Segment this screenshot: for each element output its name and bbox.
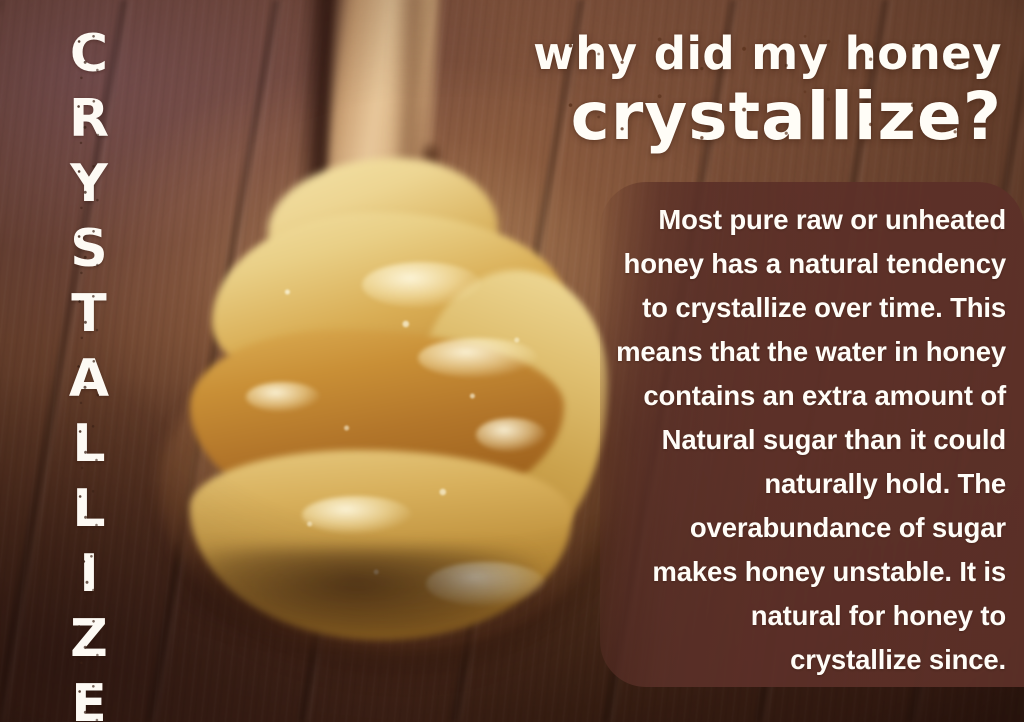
- headline: why did my honey crystallize?: [533, 28, 1002, 154]
- vertical-letter: R: [69, 87, 109, 152]
- headline-line-2: crystallize?: [533, 80, 1002, 154]
- vertical-letter: A: [69, 347, 109, 412]
- vertical-letter: Y: [70, 152, 108, 217]
- vertical-letter: S: [70, 217, 107, 282]
- vertical-letter: L: [72, 412, 105, 477]
- headline-line-1: why did my honey: [533, 28, 1002, 80]
- body-paragraph: Most pure raw or unheated honey has a na…: [614, 198, 1006, 682]
- vertical-letter: T: [71, 282, 106, 347]
- vertical-letter: C: [70, 22, 108, 87]
- vertical-letter: I: [79, 542, 98, 607]
- honey-drop-shadow: [176, 548, 536, 638]
- vertical-letter: L: [72, 477, 105, 542]
- vertical-word-crystallize: C R Y S T A L L I Z E: [52, 22, 126, 722]
- honey-crystallize-poster: C R Y S T A L L I Z E why did my honey c…: [0, 0, 1024, 722]
- vertical-letter: Z: [70, 607, 108, 672]
- body-text-container: Most pure raw or unheated honey has a na…: [600, 182, 1024, 682]
- vertical-letter: E: [71, 672, 107, 722]
